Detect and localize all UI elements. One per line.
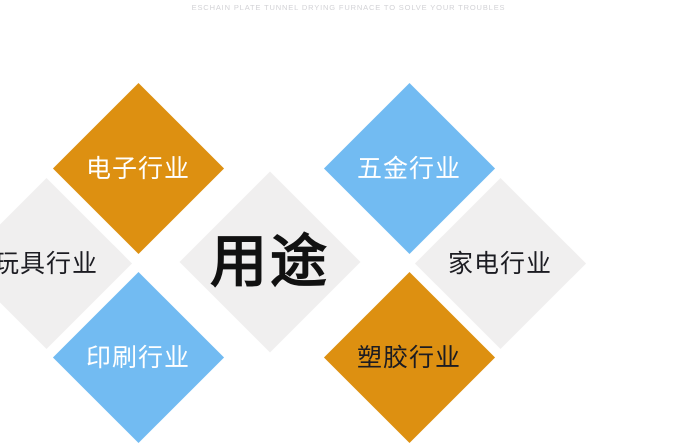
diamond-hardware-label: 五金行业 xyxy=(357,156,461,181)
uses-infographic: ESCHAIN PLATE TUNNEL DRYING FURNACE TO S… xyxy=(0,0,697,414)
diamond-home-appliance-label: 家电行业 xyxy=(448,251,552,276)
diamond-center-label: 用途 xyxy=(210,233,330,291)
diamond-printing-label: 印刷行业 xyxy=(86,345,190,370)
diamond-grid: 电子行业 五金行业 玩具行业 家电行业 印刷行业 塑胶行业 xyxy=(0,0,697,414)
diamond-plastics-label: 塑胶行业 xyxy=(357,345,461,370)
diamond-center-uses: 用途 xyxy=(206,198,334,326)
diamond-toys-label: 玩具行业 xyxy=(0,251,98,276)
diamond-electronics-label: 电子行业 xyxy=(86,156,190,181)
diamond-printing[interactable]: 印刷行业 xyxy=(78,297,199,418)
diamond-plastics[interactable]: 塑胶行业 xyxy=(349,297,470,418)
